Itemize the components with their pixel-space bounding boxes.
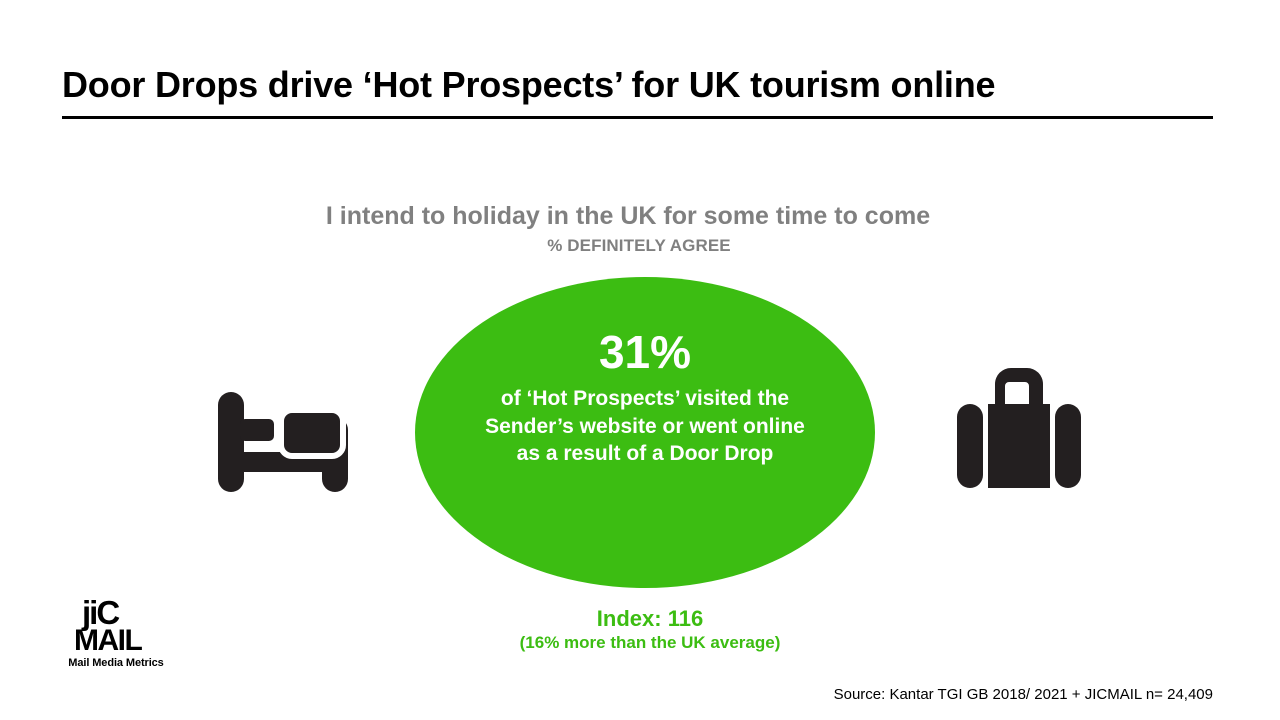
metric-label: % DEFINITELY AGREE [0,236,1280,256]
jicmail-logo-mark: jiC MAIL [60,594,172,652]
survey-question-text: I intend to holiday in the UK for some t… [326,202,930,231]
index-value: Index: 116 [415,606,885,632]
bed-icon [218,392,348,497]
index-note: (16% more than the UK average) [415,633,885,653]
title-divider [62,116,1213,119]
headline-stat-description: of ‘Hot Prospects’ visited the Sender’s … [480,385,810,468]
metric-label-text: % DEFINITELY AGREE [547,236,731,256]
highlight-ellipse: 31% of ‘Hot Prospects’ visited the Sende… [415,277,875,588]
headline-stat: 31% [599,329,691,375]
svg-text:MAIL: MAIL [74,624,142,652]
survey-question: I intend to holiday in the UK for some t… [0,202,1280,231]
slide-canvas: Door Drops drive ‘Hot Prospects’ for UK … [0,0,1280,720]
jicmail-logo: jiC MAIL Mail Media Metrics [60,594,172,669]
suitcase-icon [955,360,1083,497]
jicmail-logo-tagline: Mail Media Metrics [60,657,172,669]
page-title: Door Drops drive ‘Hot Prospects’ for UK … [62,64,1222,106]
source-note: Source: Kantar TGI GB 2018/ 2021 + JICMA… [834,686,1213,703]
index-caption: Index: 116 (16% more than the UK average… [415,606,885,653]
